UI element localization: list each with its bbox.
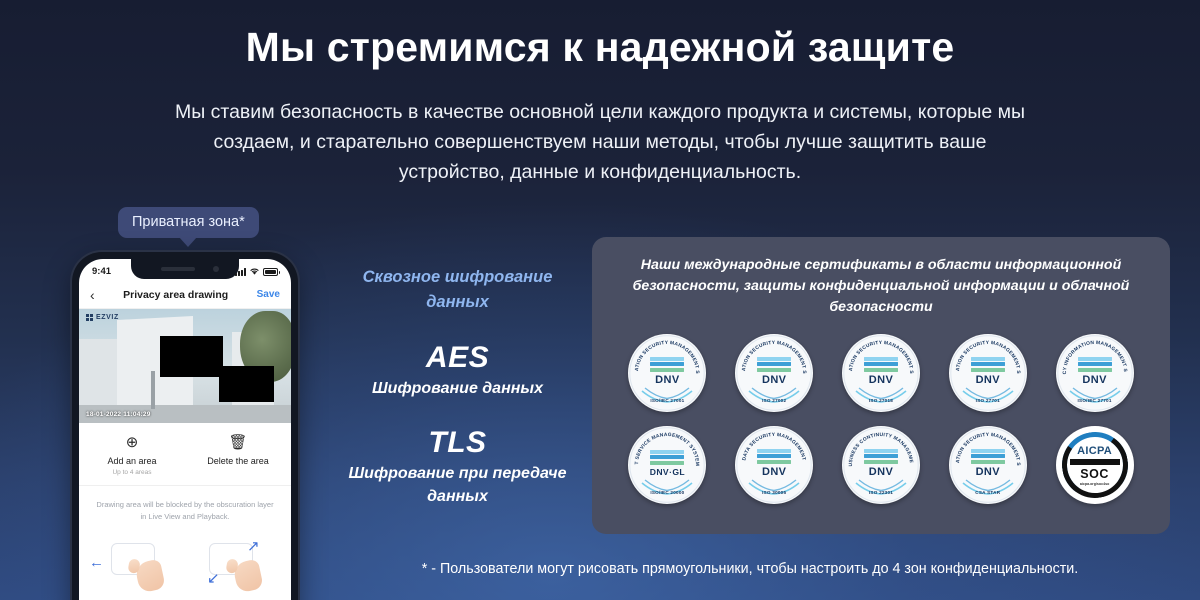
privacy-mask-rect[interactable] bbox=[160, 336, 224, 377]
dnv-wordmark: DNV bbox=[1078, 374, 1112, 386]
aicpa-wordmark: AICPA bbox=[1070, 445, 1120, 457]
dnv-wordmark: DNV bbox=[864, 466, 898, 478]
dnv-logo: DNV bbox=[757, 449, 791, 479]
certificate-code: CSA STAR bbox=[949, 490, 1027, 495]
dnv-bars-icon bbox=[971, 357, 1005, 372]
save-button[interactable]: Save bbox=[257, 289, 280, 300]
back-icon[interactable]: ‹ bbox=[90, 288, 95, 302]
certificate-badge: BUSINESS CONTINUITY MANAGEMENTDNVISO 223… bbox=[842, 426, 920, 504]
certificate-code: ISO 27018 bbox=[842, 398, 920, 403]
gesture-illustrations: ← ↗ ↙ bbox=[79, 523, 291, 595]
dnv-wordmark: DNV bbox=[757, 374, 791, 386]
aes-title: AES bbox=[330, 341, 585, 375]
certificates-panel: Наши международные сертификаты в области… bbox=[592, 237, 1170, 534]
certificate-code: ISO 27701 bbox=[949, 398, 1027, 403]
dnv-wordmark: DNV bbox=[971, 374, 1005, 386]
private-zone-callout: Приватная зона* bbox=[118, 207, 259, 238]
dnv-bars-icon bbox=[864, 357, 898, 372]
screen-title: Privacy area drawing bbox=[123, 289, 228, 301]
arrow-down-left-icon: ↙ bbox=[207, 571, 220, 586]
delete-area-label: Delete the area bbox=[185, 456, 291, 466]
certificate-badge: DATA SECURITY MANAGEMENTDNVISO 30005 bbox=[735, 426, 813, 504]
phone-screen: 9:41 ‹ Privacy area drawing Save bbox=[79, 259, 291, 600]
soc-inner: AICPASOCaicpa.org/soc4so bbox=[1070, 445, 1120, 486]
dnv-bars-icon bbox=[650, 450, 684, 465]
video-timestamp: 18-01-2022 11:04:29 bbox=[86, 411, 151, 418]
dnv-bars-icon bbox=[757, 449, 791, 464]
page-subtitle: Мы ставим безопасность в качестве основн… bbox=[165, 97, 1035, 187]
dnv-bars-icon bbox=[971, 449, 1005, 464]
dnv-logo: DNV bbox=[650, 357, 684, 387]
phone-status-bar: 9:41 bbox=[79, 259, 291, 281]
dnv-wordmark: DNV bbox=[971, 466, 1005, 478]
dnv-logo: DNV bbox=[864, 449, 898, 479]
trash-icon: 🗑 bbox=[185, 435, 291, 450]
drawing-hint-text: Drawing area will be blocked by the obsc… bbox=[79, 486, 291, 523]
certificates-grid: INFORMATION SECURITY MANAGEMENT SYSTEMDN… bbox=[614, 334, 1148, 504]
gesture-move: ← bbox=[87, 537, 185, 595]
phone-action-row: ⊕ Add an area Up to 4 areas 🗑 Delete the… bbox=[79, 423, 291, 486]
hand-icon bbox=[232, 559, 264, 594]
ezviz-logo: EZVIZ bbox=[86, 314, 119, 321]
soc-divider-bar bbox=[1070, 459, 1120, 465]
certificate-badge: INFORMATION SECURITY MANAGEMENT SYSTEMDN… bbox=[628, 334, 706, 412]
certificate-badge: IT SERVICE MANAGEMENT SYSTEMDNV·GLISO/IE… bbox=[628, 426, 706, 504]
phone-navbar: ‹ Privacy area drawing Save bbox=[79, 281, 291, 309]
certificate-badge: INFORMATION SECURITY MANAGEMENT SYSTEMDN… bbox=[949, 426, 1027, 504]
ezviz-mark-icon bbox=[86, 314, 93, 321]
dnv-bars-icon bbox=[864, 449, 898, 464]
dnv-wordmark: DNV·GL bbox=[650, 467, 685, 477]
aes-caption: Шифрование данных bbox=[330, 377, 585, 400]
status-indicators bbox=[235, 267, 278, 276]
footnote-text: * - Пользователи могут рисовать прямоуго… bbox=[330, 561, 1170, 577]
arrow-up-right-icon: ↗ bbox=[247, 539, 260, 554]
dnv-logo: DNV bbox=[864, 357, 898, 387]
phone-mockup: 9:41 ‹ Privacy area drawing Save bbox=[72, 252, 298, 600]
certificate-code: ISO 30005 bbox=[735, 490, 813, 495]
certificate-code: ISO/IEC 20000 bbox=[628, 490, 706, 495]
add-area-label: Add an area bbox=[79, 456, 185, 466]
dnv-bars-icon bbox=[757, 357, 791, 372]
battery-icon bbox=[263, 268, 278, 276]
page-title: Мы стремимся к надежной защите bbox=[0, 24, 1200, 71]
privacy-mask-rect[interactable] bbox=[207, 360, 212, 369]
certificate-badge: PRIVACY INFORMATION MANAGEMENT SYSTEMDNV… bbox=[1056, 334, 1134, 412]
certificate-badge: AICPASOCaicpa.org/soc4so bbox=[1056, 426, 1134, 504]
dnv-logo: DNV bbox=[1078, 357, 1112, 387]
certificate-code: ISO 22301 bbox=[842, 490, 920, 495]
delete-area-button[interactable]: 🗑 Delete the area bbox=[185, 435, 291, 476]
soc-code: aicpa.org/soc4so bbox=[1070, 482, 1120, 486]
cellular-signal-icon bbox=[235, 268, 246, 276]
certificate-code: ISO 27002 bbox=[735, 398, 813, 403]
dnv-logo: DNV bbox=[971, 449, 1005, 479]
dnv-logo: DNV bbox=[757, 357, 791, 387]
soc-wordmark: SOC bbox=[1070, 467, 1120, 481]
page-root: Мы стремимся к надежной защите Мы ставим… bbox=[0, 0, 1200, 600]
gesture-resize: ↗ ↙ bbox=[185, 537, 283, 595]
dnv-wordmark: DNV bbox=[650, 374, 684, 386]
dnv-wordmark: DNV bbox=[757, 466, 791, 478]
wifi-icon bbox=[249, 267, 260, 276]
ezviz-wordmark: EZVIZ bbox=[96, 314, 119, 321]
tls-caption: Шифрование при передаче данных bbox=[330, 462, 585, 508]
encryption-section: Сквозное шифрование данных AES Шифровани… bbox=[330, 265, 585, 508]
tls-title: TLS bbox=[330, 426, 585, 460]
certificate-code: ISO/IEC 27001 bbox=[628, 398, 706, 403]
private-zone-label: Приватная зона* bbox=[118, 207, 259, 238]
dnv-logo: DNV·GL bbox=[650, 450, 685, 478]
plus-circle-icon: ⊕ bbox=[79, 435, 185, 450]
dnv-bars-icon bbox=[650, 357, 684, 372]
preview-pole bbox=[151, 371, 155, 410]
status-time: 9:41 bbox=[92, 266, 111, 277]
add-area-hint: Up to 4 areas bbox=[79, 469, 185, 476]
privacy-mask-rect[interactable] bbox=[219, 366, 274, 402]
end-to-end-encryption-label: Сквозное шифрование данных bbox=[330, 265, 585, 315]
hand-icon bbox=[134, 559, 166, 594]
dnv-wordmark: DNV bbox=[864, 374, 898, 386]
certificates-heading: Наши международные сертификаты в области… bbox=[614, 255, 1148, 318]
dnv-logo: DNV bbox=[971, 357, 1005, 387]
camera-preview: EZVIZ 18-01-2022 11:04:29 bbox=[79, 309, 291, 423]
dnv-bars-icon bbox=[1078, 357, 1112, 372]
certificate-code: ISO/IEC 27701 bbox=[1056, 398, 1134, 403]
arrow-left-icon: ← bbox=[89, 555, 104, 570]
certificate-badge: INFORMATION SECURITY MANAGEMENT SYSTEMDN… bbox=[842, 334, 920, 412]
add-area-button[interactable]: ⊕ Add an area Up to 4 areas bbox=[79, 435, 185, 476]
certificate-badge: INFORMATION SECURITY MANAGEMENT SYSTEMDN… bbox=[949, 334, 1027, 412]
certificate-badge: INFORMATION SECURITY MANAGEMENT SYSTEMDN… bbox=[735, 334, 813, 412]
